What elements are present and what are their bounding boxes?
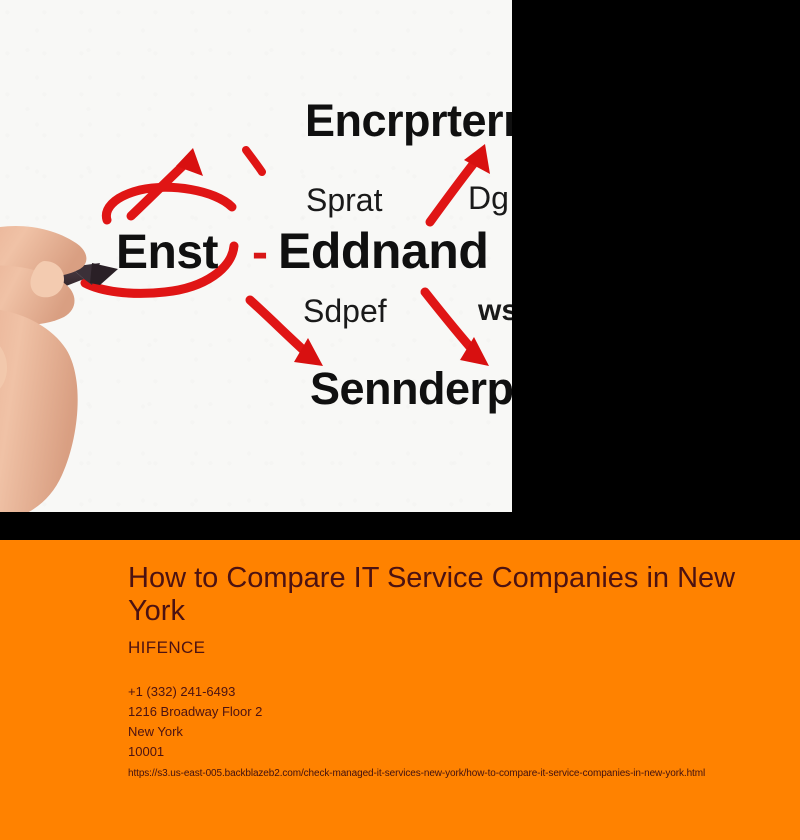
diagram-dash-label: - <box>252 225 267 280</box>
page-title: How to Compare IT Service Companies in N… <box>128 562 753 628</box>
brand-label: HIFENCE <box>128 638 786 658</box>
letterbox-bottom <box>0 512 512 540</box>
red-circle-arc-top <box>106 187 232 220</box>
info-panel: How to Compare IT Service Companies in N… <box>0 540 800 840</box>
contact-street: 1216 Broadway Floor 2 <box>128 702 786 722</box>
source-url-link[interactable]: https://s3.us-east-005.backblazeb2.com/c… <box>128 767 786 781</box>
contact-block: +1 (332) 241-6493 1216 Broadway Floor 2 … <box>128 682 786 762</box>
contact-city: New York <box>128 722 786 742</box>
diagram-lower-left-small-label: Sdpef <box>303 293 387 330</box>
whiteboard-image: Encrprterni Sprat Dg Enst - Eddnand Sdpe… <box>0 0 512 512</box>
info-panel-content: How to Compare IT Service Companies in N… <box>128 562 786 781</box>
diagram-lower-right-small-label: ws <box>478 294 512 328</box>
diagram-upper-right-small-label: Dg <box>468 180 509 217</box>
page-root: Encrprterni Sprat Dg Enst - Eddnand Sdpe… <box>0 0 800 840</box>
diagram-bottom-label: Sennderp <box>310 363 512 415</box>
red-stray-mark-top <box>246 150 262 172</box>
hand-shape <box>0 226 86 512</box>
contact-phone[interactable]: +1 (332) 241-6493 <box>128 682 786 702</box>
diagram-top-label: Encrprterni <box>305 95 512 147</box>
hand-with-marker <box>0 225 142 512</box>
red-arrow-downright-shaft <box>250 300 310 356</box>
letterbox-right <box>512 0 800 540</box>
hero-media-area: Encrprterni Sprat Dg Enst - Eddnand Sdpe… <box>0 0 800 540</box>
contact-postal-code: 10001 <box>128 742 786 762</box>
diagram-upper-left-small-label: Sprat <box>306 182 382 219</box>
marker-tip <box>90 263 118 285</box>
diagram-center-right-label: Eddnand <box>278 222 488 280</box>
